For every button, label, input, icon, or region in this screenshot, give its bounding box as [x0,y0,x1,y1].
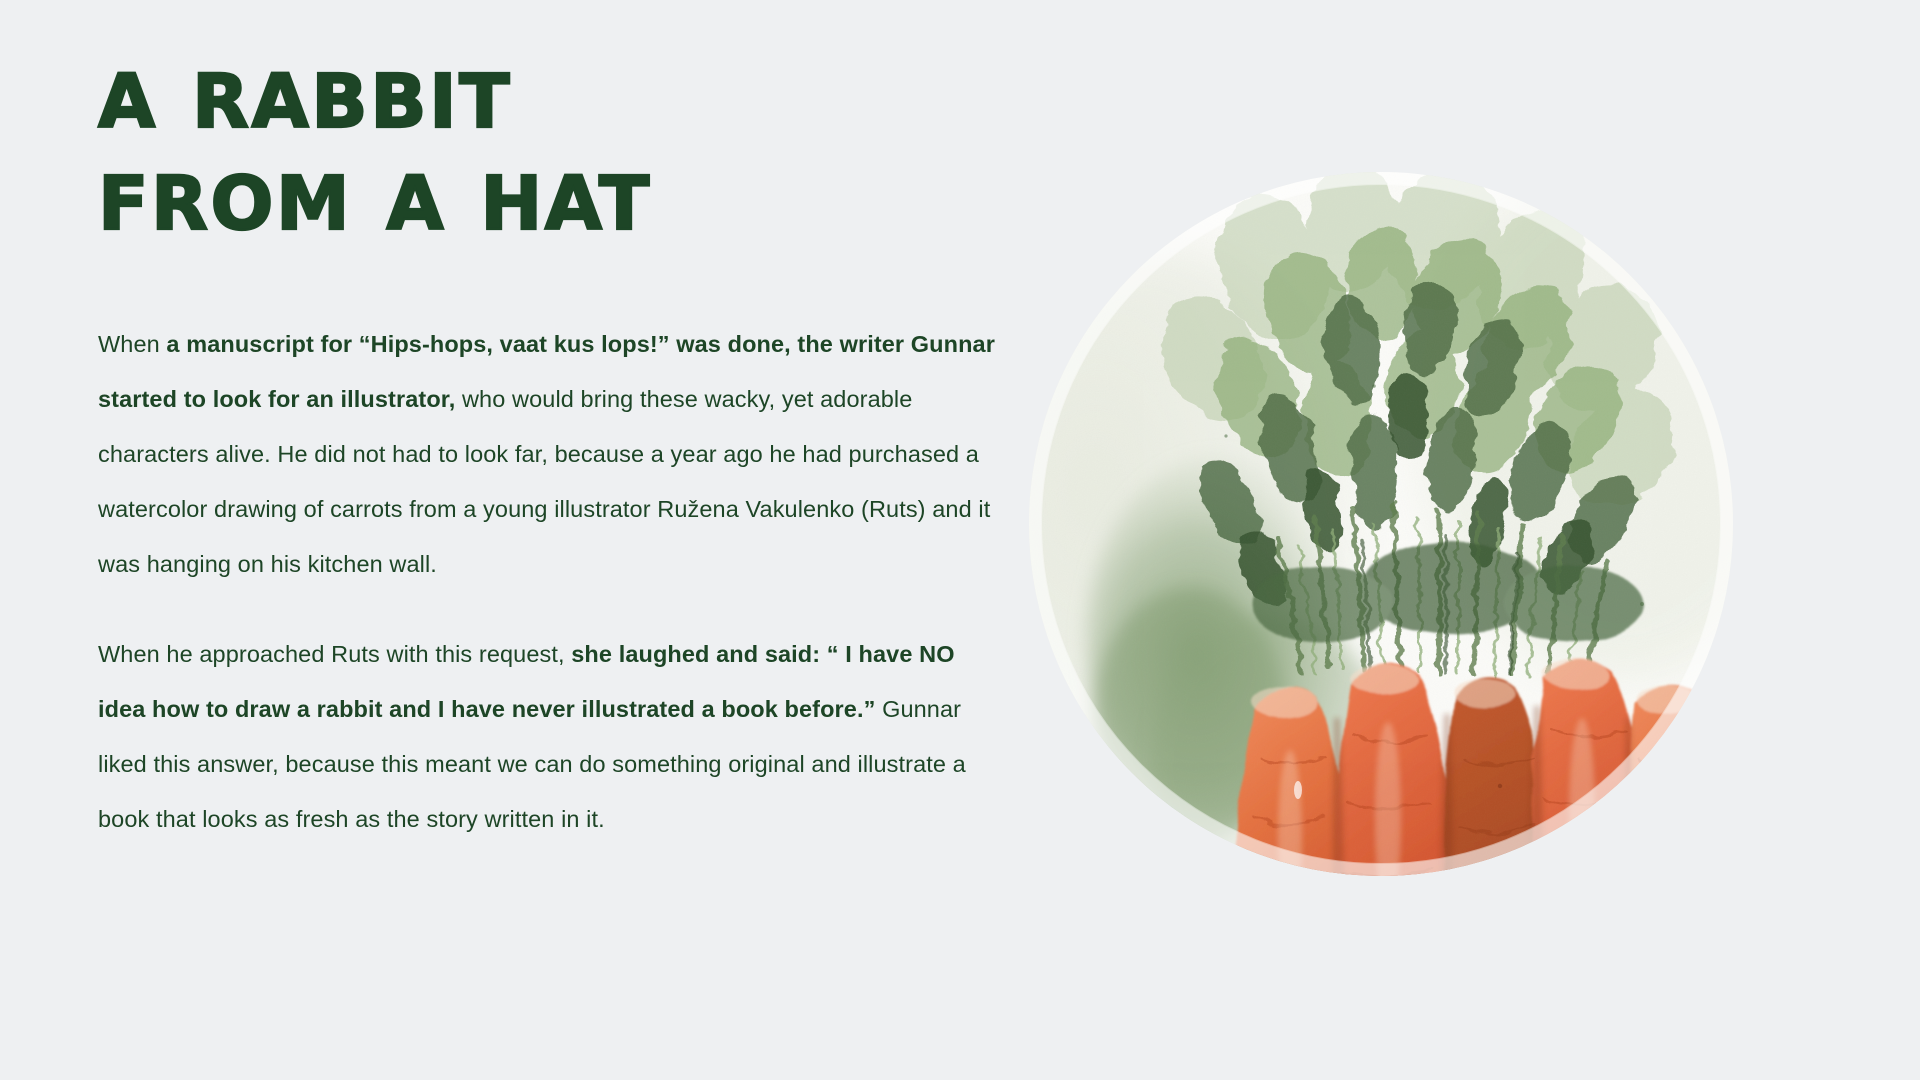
paragraph-1-run-0: When [98,331,166,357]
paragraph-2-run-0: When he approached Ruts with this reques… [98,641,571,667]
illustration-watercolor-carrots [1022,118,1740,978]
page-title: A rabbit from a hat [98,48,1018,259]
body-copy: When a manuscript for “Hips-hops, vaat k… [98,317,1003,847]
text-column: A rabbit from a hat When a manuscript fo… [98,48,1018,847]
slide-canvas: A rabbit from a hat When a manuscript fo… [0,0,1920,1080]
page-title-line-2: from a hat [98,150,1018,260]
paragraph-1-run-2: who would bring these wacky, yet adorabl… [98,386,990,577]
paragraph-2: When he approached Ruts with this reques… [98,627,1003,847]
carrots-artwork [1022,118,1740,978]
page-title-line-1: A rabbit [98,48,1018,158]
paragraph-1: When a manuscript for “Hips-hops, vaat k… [98,317,1003,592]
artwork-canvas [1022,118,1740,978]
